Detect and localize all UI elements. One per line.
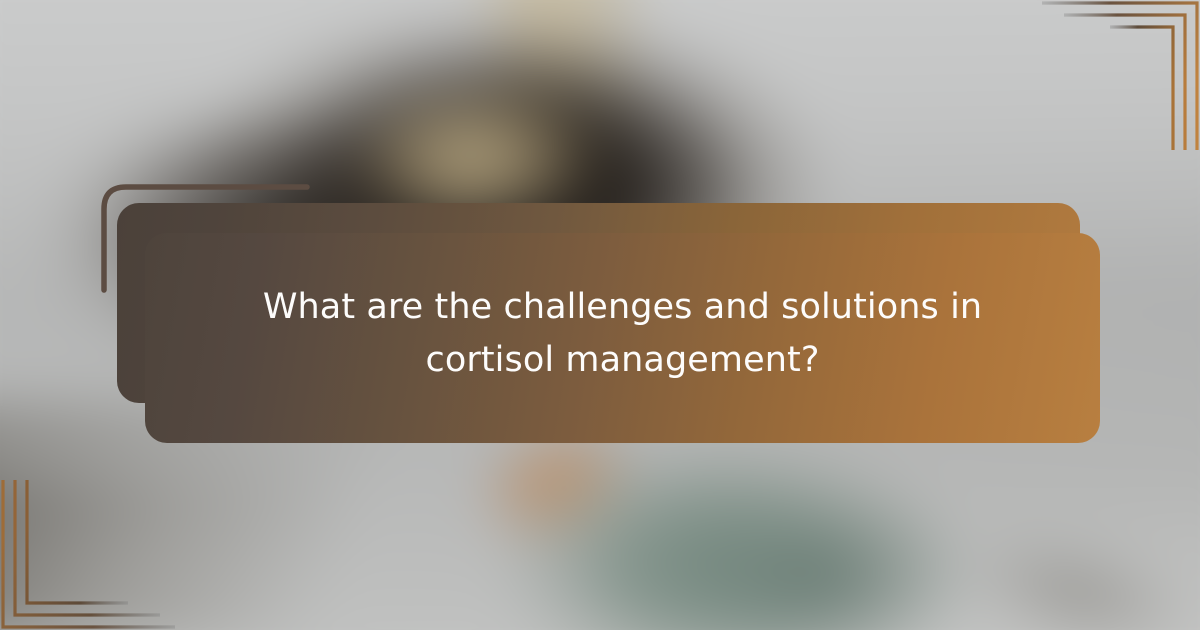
page-title: What are the challenges and solutions in… [145,281,1100,387]
corner-bracket-top-right [990,0,1200,150]
corner-bracket-bottom-left [0,470,210,630]
page-title-line-1: What are the challenges and solutions in [191,281,1054,334]
background-garment-shape-2 [653,480,996,630]
page-title-line-2: cortisol management? [191,334,1054,387]
share-card-canvas: What are the challenges and solutions in… [0,0,1200,630]
question-card: What are the challenges and solutions in… [145,233,1100,443]
